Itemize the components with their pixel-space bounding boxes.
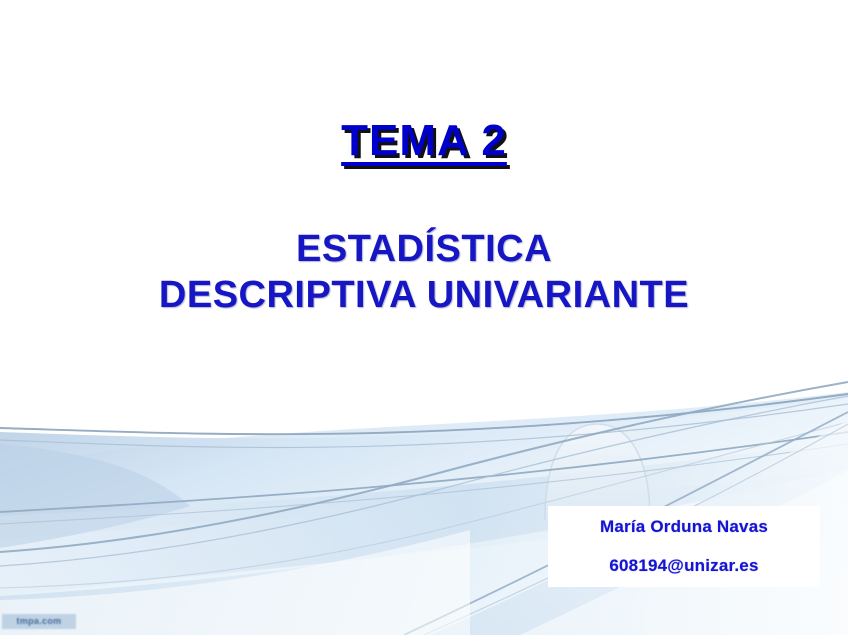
- author-info-box: María Orduna Navas 608194@unizar.es: [548, 506, 820, 587]
- watermark-label: tmpa.com: [2, 614, 76, 629]
- subtitle-block: ESTADÍSTICA DESCRIPTIVA UNIVARIANTE: [0, 226, 848, 319]
- subtitle-line-2: DESCRIPTIVA UNIVARIANTE: [0, 272, 848, 318]
- slide-title: TEMA 2: [341, 118, 507, 164]
- author-email: 608194@unizar.es: [609, 556, 758, 576]
- presentation-slide: TEMA 2 ESTADÍSTICA DESCRIPTIVA UNIVARIAN…: [0, 0, 848, 635]
- author-name: María Orduna Navas: [600, 517, 768, 537]
- title-block: TEMA 2: [0, 118, 848, 164]
- subtitle-line-1: ESTADÍSTICA: [0, 226, 848, 272]
